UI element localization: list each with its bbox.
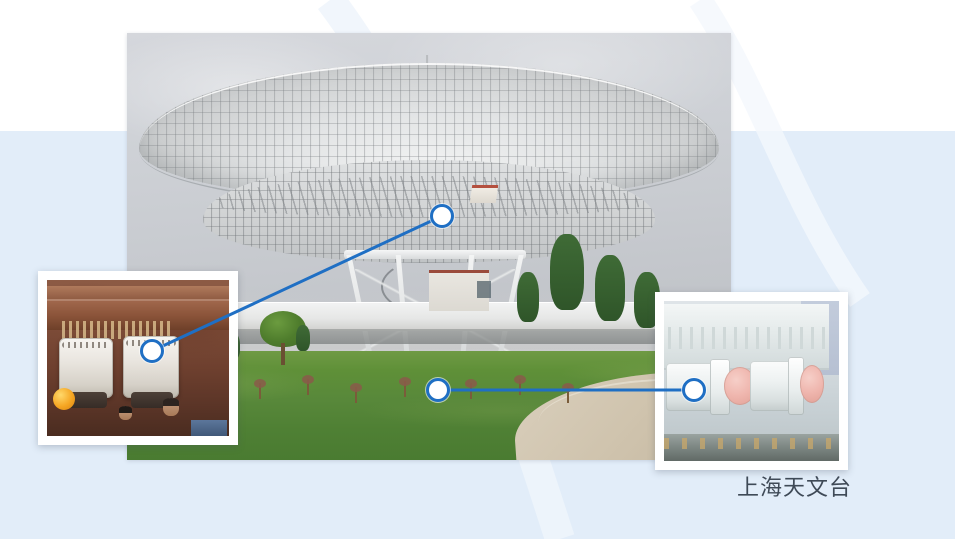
worker-hair <box>163 398 179 406</box>
shrub <box>465 379 477 399</box>
conifer-tree <box>595 255 625 321</box>
machine-base-rail <box>664 434 839 461</box>
photo-caption: 上海天文台 <box>737 470 852 502</box>
shrub <box>254 379 266 399</box>
conifer-tree <box>296 325 310 351</box>
azimuth-drive-unrestored-frame <box>38 271 238 445</box>
shrub <box>514 375 526 395</box>
orange-ball-object <box>53 388 75 410</box>
shrub <box>562 383 574 403</box>
slide-canvas: 上海天文台 <box>0 0 955 539</box>
callout-marker-left-inset[interactable] <box>140 339 164 363</box>
housing-fins <box>668 327 826 349</box>
shrub <box>302 375 314 395</box>
conifer-tree <box>517 272 539 322</box>
shrub <box>399 377 411 397</box>
callout-marker-telescope-base[interactable] <box>426 378 450 402</box>
azimuth-drive-unrestored-photo <box>47 280 229 436</box>
mount-counterweight <box>470 185 499 203</box>
conifer-tree <box>550 234 584 310</box>
worker-clothing <box>191 420 227 436</box>
site-building-window <box>477 281 490 298</box>
tree-trunk <box>281 343 285 365</box>
azimuth-drive-restored-frame <box>655 292 848 470</box>
callout-marker-telescope-mount[interactable] <box>430 204 454 228</box>
shrub <box>350 383 362 403</box>
pink-end-cap <box>800 365 824 403</box>
callout-marker-right-inset[interactable] <box>682 378 706 402</box>
worker-hair <box>119 406 132 413</box>
